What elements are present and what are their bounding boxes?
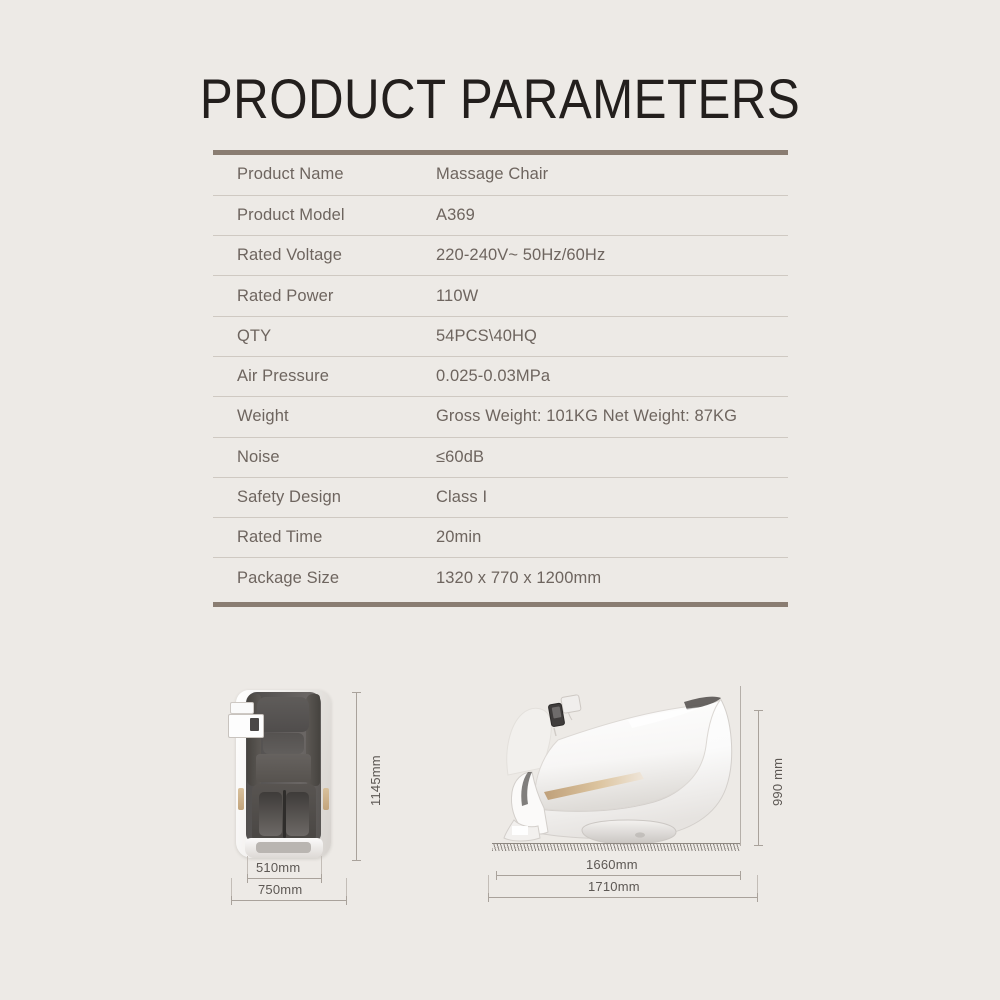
front-height-dim-label: 1145mm <box>368 755 383 806</box>
chair-foot-highlight <box>512 826 528 835</box>
remote-dock-panel <box>561 695 582 714</box>
chair-backrest <box>256 754 311 782</box>
spec-label: Rated Voltage <box>213 236 434 276</box>
side-height-dim-cap-bottom <box>754 845 763 846</box>
front-height-dim-line <box>356 692 357 860</box>
spec-label: Product Model <box>213 195 434 235</box>
table-row: Product Model A369 <box>213 195 788 235</box>
spec-label: Air Pressure <box>213 356 434 396</box>
spec-label: Safety Design <box>213 477 434 517</box>
spec-value: Massage Chair <box>434 155 788 195</box>
spec-value: 0.025-0.03MPa <box>434 356 788 396</box>
remote-holder-arm <box>230 702 254 714</box>
inner-width-dim-cap-right <box>321 874 322 883</box>
outer-width-dim-cap-right <box>346 896 347 905</box>
body-length-dim-line <box>496 875 741 876</box>
total-length-dim-label: 1710mm <box>588 879 640 894</box>
spec-label: Product Name <box>213 155 434 195</box>
outer-width-dim-cap-left <box>231 896 232 905</box>
chair-leg-wells <box>252 784 316 840</box>
spec-value: Gross Weight: 101KG Net Weight: 87KG <box>434 397 788 437</box>
total-length-dim-line <box>488 897 758 898</box>
inner-width-dim-label: 510mm <box>256 860 300 875</box>
table-row: Product Name Massage Chair <box>213 155 788 195</box>
outer-width-dim-line <box>231 900 347 901</box>
remote-control <box>548 695 581 736</box>
spec-table: Product Name Massage Chair Product Model… <box>213 150 788 607</box>
rear-reference-line <box>740 686 741 846</box>
table-row: Rated Power 110W <box>213 276 788 316</box>
chair-headrest <box>257 697 309 732</box>
spec-label: Package Size <box>213 558 434 598</box>
remote-cable <box>554 728 556 736</box>
chair-neck-cushion <box>263 733 304 754</box>
product-parameters-page: PRODUCT PARAMETERS Product Name Massage … <box>0 0 1000 1000</box>
side-view-chair-svg <box>488 680 748 855</box>
spec-value: 20min <box>434 518 788 558</box>
table-row: QTY 54PCS\40HQ <box>213 316 788 356</box>
chair-leg-well-divider <box>283 790 286 838</box>
table-row: Noise ≤60dB <box>213 437 788 477</box>
side-height-dim-cap-top <box>754 710 763 711</box>
table-row: Safety Design Class I <box>213 477 788 517</box>
front-view-chair-image <box>228 688 338 860</box>
chair-base-logo <box>635 832 645 837</box>
spec-label: Noise <box>213 437 434 477</box>
dimension-drawings: 1145mm 510mm 750mm <box>0 660 1000 930</box>
chair-footrest-inner <box>256 842 311 853</box>
spec-value: 54PCS\40HQ <box>434 316 788 356</box>
chair-leg-well-right <box>286 792 309 836</box>
body-length-dim-cap-right <box>740 871 741 880</box>
chair-leg-well-left <box>259 792 282 836</box>
spec-rows: Product Name Massage Chair Product Model… <box>213 155 788 598</box>
spec-value: ≤60dB <box>434 437 788 477</box>
table-row: Rated Voltage 220-240V~ 50Hz/60Hz <box>213 236 788 276</box>
spec-value: 220-240V~ 50Hz/60Hz <box>434 236 788 276</box>
spec-label: QTY <box>213 316 434 356</box>
spec-label: Rated Power <box>213 276 434 316</box>
side-height-dim-line <box>758 710 759 845</box>
gold-accent-right <box>323 788 329 810</box>
spec-value: A369 <box>434 195 788 235</box>
outer-width-dim-label: 750mm <box>258 882 302 897</box>
chair-base-plate <box>582 820 676 844</box>
table-row: Package Size 1320 x 770 x 1200mm <box>213 558 788 598</box>
spec-label: Rated Time <box>213 518 434 558</box>
remote-control-icon <box>250 718 259 731</box>
table-row: Air Pressure 0.025-0.03MPa <box>213 356 788 396</box>
total-length-dim-cap-right <box>757 893 758 902</box>
side-view-drawing: 990 mm 1660mm 1710mm <box>488 680 788 920</box>
spec-value: 110W <box>434 276 788 316</box>
body-length-dim-label: 1660mm <box>586 857 638 872</box>
total-length-dim-cap-left <box>488 893 489 902</box>
front-height-dim-cap-top <box>352 692 361 693</box>
side-view-chair-image <box>488 680 748 855</box>
front-height-dim-cap-bottom <box>352 860 361 861</box>
spec-label: Weight <box>213 397 434 437</box>
page-title: PRODUCT PARAMETERS <box>60 66 940 131</box>
table-row: Rated Time 20min <box>213 518 788 558</box>
spec-value: Class I <box>434 477 788 517</box>
floor-hatching <box>492 843 740 851</box>
gold-accent-left <box>238 788 244 810</box>
side-height-dim-label: 990 mm <box>770 758 785 806</box>
inner-width-dim-line <box>247 878 322 879</box>
table-bottom-rule <box>213 602 788 607</box>
body-length-dim-cap-left <box>496 871 497 880</box>
inner-width-dim-cap-left <box>247 874 248 883</box>
front-view-drawing: 1145mm 510mm 750mm <box>228 688 388 918</box>
spec-value: 1320 x 770 x 1200mm <box>434 558 788 598</box>
table-row: Weight Gross Weight: 101KG Net Weight: 8… <box>213 397 788 437</box>
